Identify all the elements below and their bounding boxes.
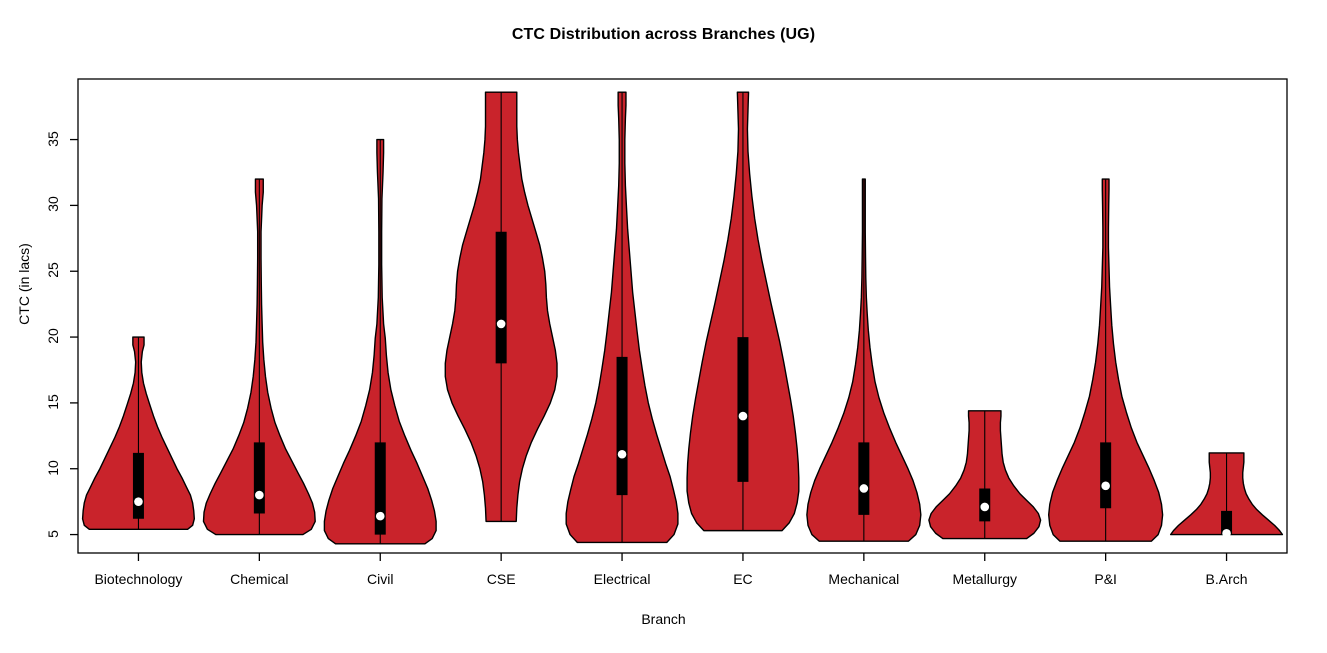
x-tick-label-ec: EC [733, 571, 752, 587]
violin-cse [445, 92, 557, 521]
median-point [255, 491, 264, 500]
median-point [497, 320, 506, 329]
violin-b-arch [1171, 453, 1283, 538]
violin-chemical [203, 179, 315, 535]
median-point [618, 450, 627, 459]
x-tick-label-chemical: Chemical [230, 571, 288, 587]
y-tick-label: 30 [45, 187, 61, 221]
median-point [860, 484, 869, 493]
violin-plot-figure: CTC Distribution across Branches (UG) CT… [0, 0, 1327, 653]
y-tick-label: 20 [45, 319, 61, 353]
x-tick-label-mechanical: Mechanical [828, 571, 899, 587]
y-tick-label: 25 [45, 253, 61, 287]
violin-p-i [1049, 179, 1163, 541]
median-point [980, 503, 989, 512]
violin-mechanical [807, 179, 921, 541]
median-point [1222, 529, 1231, 538]
violin-metallurgy [929, 411, 1041, 539]
x-tick-label-cse: CSE [487, 571, 516, 587]
median-point [134, 497, 143, 506]
x-tick-label-civil: Civil [367, 571, 393, 587]
median-point [1101, 482, 1110, 491]
median-point [376, 512, 385, 521]
violin-biotechnology [83, 337, 195, 529]
y-tick-label: 15 [45, 385, 61, 419]
x-tick-label-p-i: P&I [1094, 571, 1117, 587]
x-tick-label-b-arch: B.Arch [1206, 571, 1248, 587]
violin-ec [687, 92, 799, 530]
x-tick-label-electrical: Electrical [594, 571, 651, 587]
x-tick-label-metallurgy: Metallurgy [952, 571, 1017, 587]
plot-canvas [0, 0, 1327, 653]
y-tick-label: 35 [45, 122, 61, 156]
violin-electrical [566, 92, 678, 542]
median-point [739, 412, 748, 421]
violin-layer [83, 92, 1283, 544]
violin-civil [324, 140, 436, 544]
x-tick-label-biotechnology: Biotechnology [94, 571, 182, 587]
y-tick-label: 10 [45, 451, 61, 485]
y-tick-label: 5 [45, 517, 61, 551]
